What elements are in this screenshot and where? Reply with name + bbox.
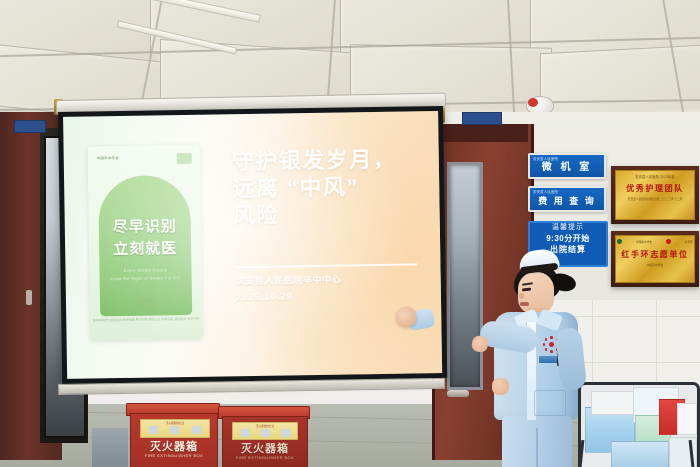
slide-title: 守护银发岁月， 远离 “中风” 风险	[232, 145, 433, 229]
brochure-rack	[578, 382, 700, 467]
extinguisher-step-icon	[241, 429, 250, 437]
plaque-top-text: 农安县人民医院 2023年度	[616, 171, 694, 179]
fire-extinguisher-box-2: 灭火器使用方法 灭火器箱 FIRE EXTINGUISHER BOX	[222, 416, 308, 467]
plaque-sub-text: 农安县人民医院护理部 颁 二〇二三年十二月	[616, 198, 694, 202]
plaque-face: 农安县人民医院 2023年度 优秀护理团队 农安县人民医院护理部 颁 二〇二三年…	[615, 170, 695, 220]
slide-title-line-2: 远离 “中风”	[232, 172, 432, 202]
wall-sign-label: 微 机 室	[530, 161, 604, 175]
fire-box-chinese-label: 灭火器箱	[131, 438, 217, 454]
slide-poster-card: 中国卒中学会 尽早识别 立刻就医 Every Minute Counts Kno…	[88, 145, 203, 341]
brochure-leaflet[interactable]	[591, 391, 637, 415]
door-plate-right	[462, 112, 502, 125]
nurse-uniform-pocket	[534, 390, 566, 416]
plaque-logo-row: 中国卒中学会 红手环	[616, 239, 694, 244]
poster-headline-2: 立刻就医	[89, 237, 201, 260]
wall-sign-label: 费 用 查 询	[530, 194, 604, 208]
nurse-nose	[519, 293, 524, 299]
slide-divider	[235, 263, 417, 268]
lecture-room-photo: 中国卒中学会 尽早识别 立刻就医 Every Minute Counts Kno…	[0, 0, 700, 467]
fire-box-english-label: FIRE EXTINGUISHER BOX	[131, 453, 217, 458]
notice-line-1: 温馨提示	[530, 223, 606, 233]
fire-box-instruction-label: 灭火器使用方法	[232, 422, 298, 440]
fire-box-chinese-label: 灭火器箱	[223, 440, 307, 456]
presentation-slide: 中国卒中学会 尽早识别 立刻就医 Every Minute Counts Kno…	[63, 111, 442, 379]
plaque-sub-text: 中国卒中学会	[616, 264, 694, 268]
medical-cart	[92, 428, 128, 467]
slide-date: 2025.10.29	[236, 291, 293, 302]
extinguisher-step-icon	[281, 429, 290, 437]
fire-box-english-label: FIRE EXTINGUISHER BOX	[223, 455, 307, 460]
plaque-title: 红手环志愿单位	[616, 249, 694, 260]
extinguisher-step-icon	[149, 426, 158, 434]
left-door-handle[interactable]	[26, 290, 32, 305]
brochure-leaflet[interactable]	[677, 403, 697, 435]
nurse-mouth	[520, 302, 529, 306]
nurse-right-hand	[492, 378, 509, 395]
right-door-handle[interactable]	[447, 390, 469, 397]
fire-extinguisher-box-1: 灭火器使用方法 灭火器箱 FIRE EXTINGUISHER BOX	[130, 413, 218, 467]
poster-footer-text: 脑卒中防治 识别症状 及时就医 黄金时间 拨打120 尽早送医 溶栓取栓 争分夺…	[90, 317, 202, 323]
plaque-logo-right-text: 红手环	[685, 240, 693, 244]
poster-logo-chip	[137, 298, 154, 308]
nurse-presenter	[470, 250, 590, 467]
slide-organization: 农安县人民医院卒中中心	[236, 273, 342, 288]
extinguisher-step-icon	[170, 426, 179, 434]
fire-box-pictograms	[233, 428, 297, 438]
plaque-logo-left-text: 中国卒中学会	[636, 240, 652, 244]
wall-sign-fee-inquiry: 农安县人民医院 费 用 查 询	[528, 186, 606, 212]
poster-badge-icon	[177, 153, 192, 164]
slide-title-line-1: 守护银发岁月，	[232, 145, 432, 175]
brochure-leaflet[interactable]	[611, 441, 669, 467]
right-door-transom	[432, 124, 528, 142]
poster-brand-text: 中国卒中学会	[97, 155, 119, 160]
fire-box-pictograms	[141, 425, 209, 435]
nurse-trouser-seam	[536, 428, 538, 467]
fire-box-instruction-label: 灭火器使用方法	[140, 419, 210, 438]
plaque-red-bracelet-volunteer-unit: 中国卒中学会 红手环 红手环志愿单位 中国卒中学会	[611, 231, 699, 287]
extinguisher-step-icon	[261, 429, 270, 437]
plaque-title: 优秀护理团队	[616, 183, 694, 194]
plaque-excellent-nursing-team: 农安县人民医院 2023年度 优秀护理团队 农安县人民医院护理部 颁 二〇二三年…	[611, 166, 699, 224]
stroke-society-logo-icon	[617, 239, 622, 244]
projection-screen: 中国卒中学会 尽早识别 立刻就医 Every Minute Counts Kno…	[58, 106, 447, 384]
red-bracelet-logo-icon	[666, 239, 671, 244]
extinguisher-step-icon	[192, 426, 201, 434]
poster-headline-1: 尽早识别	[89, 215, 201, 238]
plaque-face: 中国卒中学会 红手环 红手环志愿单位 中国卒中学会	[615, 235, 695, 283]
slide-title-line-3: 风险	[232, 199, 432, 229]
door-plate-left	[14, 120, 46, 133]
wall-sign-computer-room: 农安县人民医院 微 机 室	[528, 153, 606, 179]
notice-line-2: 9:30分开始	[530, 233, 606, 244]
